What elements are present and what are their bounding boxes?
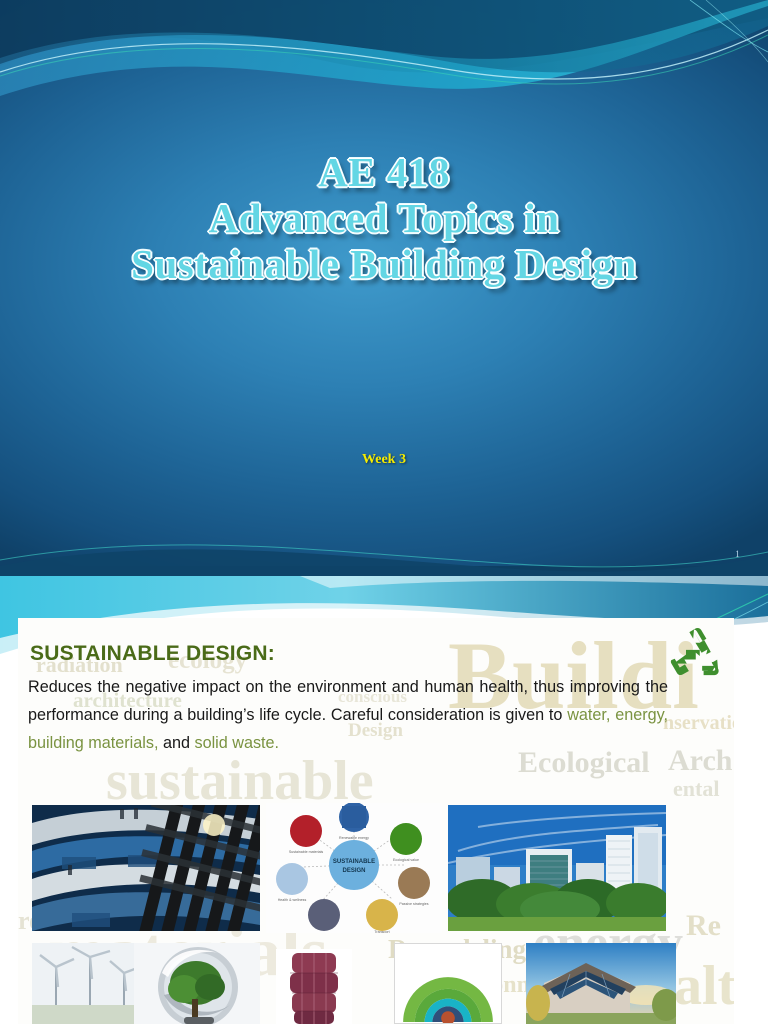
title-line-course-code: AE 418	[0, 150, 768, 196]
background-word: Arch	[668, 746, 732, 776]
decorative-wave-graphic	[0, 0, 768, 576]
background-word: sustainable	[106, 753, 374, 809]
solar-roof-photo	[526, 943, 676, 1024]
section-paragraph: Reduces the negative impact on the envir…	[28, 674, 668, 758]
green-city-photo	[448, 805, 666, 931]
recycle-icon	[668, 628, 720, 676]
background-word: ental	[673, 778, 719, 800]
svg-text:Ecological value: Ecological value	[393, 858, 419, 862]
image-gallery: SUSTAINABLE DESIGN Renewable energy Ecol…	[18, 803, 734, 1024]
glass-atrium-photo	[32, 805, 260, 931]
svg-text:Transport: Transport	[374, 930, 389, 933]
paragraph-segment: and	[158, 734, 194, 752]
title-line-subject: Advanced Topics in	[0, 196, 768, 242]
svg-text:Health & wellness: Health & wellness	[278, 898, 307, 902]
slide-number: 1	[735, 549, 740, 559]
svg-text:DESIGN: DESIGN	[342, 868, 365, 874]
svg-text:Renewable energy: Renewable energy	[339, 836, 369, 840]
slide2-content-area: radiationecologyarchitectureconsciousDes…	[18, 618, 734, 1024]
content-slide: radiationecologyarchitectureconsciousDes…	[0, 576, 768, 1024]
title-line-subject-cont: Sustainable Building Design	[0, 242, 768, 288]
straw-bales-photo	[276, 949, 352, 1024]
title-slide: AE 418 Advanced Topics in Sustainable Bu…	[0, 0, 768, 576]
green-circle-diagram: PROSPECTIVE OF NATURAL CAPITAL	[394, 943, 502, 1024]
section-heading: SUSTAINABLE DESIGN:	[30, 642, 275, 666]
slide-deck: AE 418 Advanced Topics in Sustainable Bu…	[0, 0, 768, 1024]
svg-text:Passive strategies: Passive strategies	[399, 902, 428, 906]
sustainable-design-diagram: SUSTAINABLE DESIGN Renewable energy Ecol…	[266, 803, 442, 933]
svg-text:NATURAL CAPITAL: NATURAL CAPITAL	[442, 967, 467, 971]
svg-text:SUSTAINABLE: SUSTAINABLE	[333, 859, 375, 865]
paragraph-segment: solid waste.	[194, 734, 279, 752]
presentation-title: AE 418 Advanced Topics in Sustainable Bu…	[0, 150, 768, 288]
background-word: nservation	[663, 713, 734, 733]
week-label: Week 3	[0, 452, 768, 468]
lightbulb-tree-photo	[134, 943, 260, 1024]
svg-text:PROSPECTIVE OF: PROSPECTIVE OF	[442, 962, 466, 966]
svg-text:Sustainable materials: Sustainable materials	[289, 850, 324, 854]
